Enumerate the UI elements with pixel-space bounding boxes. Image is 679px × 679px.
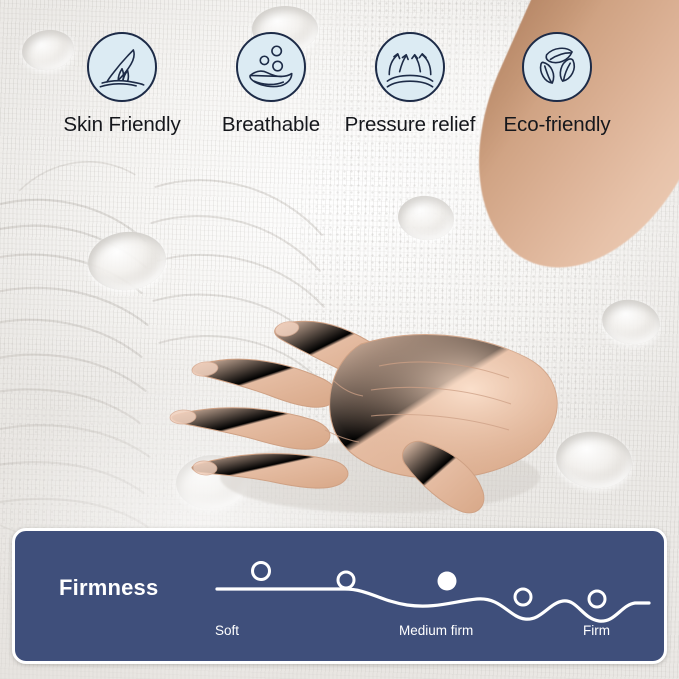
feature-label: Breathable	[191, 113, 351, 137]
upward-arrows-surface-icon	[375, 32, 445, 102]
firmness-panel: Firmness Soft Medium firm Firm	[12, 528, 667, 664]
hand-with-bubbles-icon	[236, 32, 306, 102]
infographic-canvas: Skin Friendly Breathable	[0, 0, 679, 679]
feature-pressure-relief[interactable]: Pressure relief	[330, 32, 490, 137]
feature-icon-row: Skin Friendly Breathable	[0, 0, 679, 175]
firmness-marker-1	[253, 563, 270, 580]
scale-label-medium: Medium firm	[399, 623, 473, 638]
scale-label-firm: Firm	[583, 623, 610, 638]
scale-label-soft: Soft	[215, 623, 239, 638]
feature-label: Pressure relief	[330, 113, 490, 137]
feature-breathable[interactable]: Breathable	[191, 32, 351, 137]
firmness-marker-2	[338, 572, 354, 588]
three-leaves-recycle-icon	[522, 32, 592, 102]
firmness-marker-4	[515, 589, 531, 605]
firmness-marker-3-selected	[438, 572, 457, 591]
firmness-scale[interactable]	[15, 531, 664, 661]
hand-pressing-mattress	[165, 292, 565, 527]
feature-skin-friendly[interactable]: Skin Friendly	[42, 32, 202, 137]
feature-label: Eco-friendly	[477, 113, 637, 137]
feature-label: Skin Friendly	[42, 113, 202, 137]
firmness-marker-5	[589, 591, 605, 607]
feature-eco-friendly[interactable]: Eco-friendly	[477, 32, 637, 137]
hand-touching-surface-icon	[87, 32, 157, 102]
